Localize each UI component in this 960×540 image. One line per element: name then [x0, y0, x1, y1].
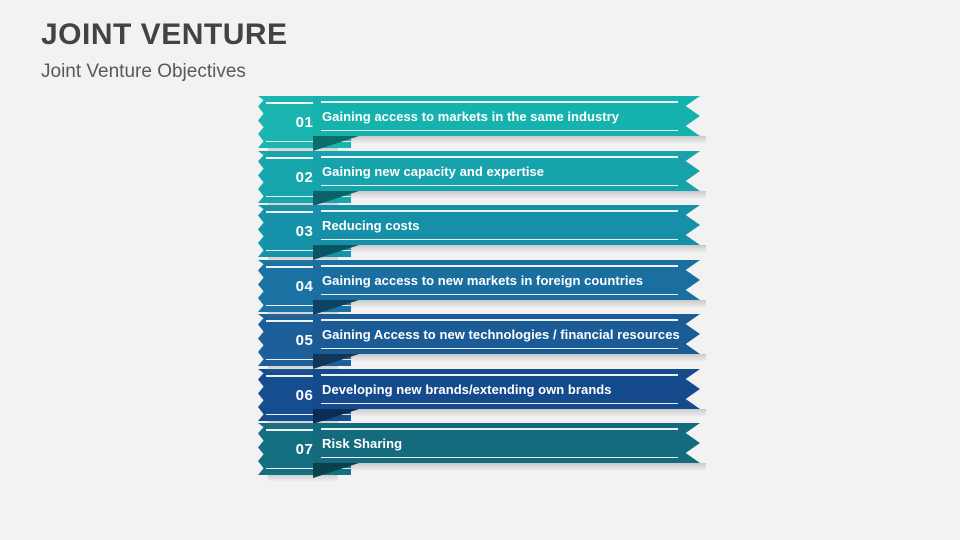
ribbon-banner[interactable]: Gaining Access to new technologies / fin…	[313, 314, 700, 354]
banner-shadow	[340, 136, 706, 144]
ribbon-banner[interactable]: Gaining new capacity and expertise	[313, 151, 700, 191]
banner-shadow	[340, 191, 706, 199]
ribbon-banner[interactable]: Developing new brands/extending own bran…	[313, 369, 700, 409]
ribbon-label: Gaining access to markets in the same in…	[322, 96, 619, 136]
ribbon-banner[interactable]: Risk Sharing	[313, 423, 700, 463]
ribbon-banner[interactable]: Reducing costs	[313, 205, 700, 245]
ribbon-label: Developing new brands/extending own bran…	[322, 369, 612, 409]
ribbon-label: Gaining new capacity and expertise	[322, 151, 544, 191]
ribbon-number: 05	[296, 332, 314, 349]
ribbon-banner[interactable]: Gaining access to new markets in foreign…	[313, 260, 700, 300]
banner-shadow	[340, 300, 706, 308]
slide-canvas: JOINT VENTURE Joint Venture Objectives 0…	[0, 0, 960, 540]
ribbon-label: Gaining Access to new technologies / fin…	[322, 314, 680, 354]
ribbon-number: 01	[296, 114, 314, 131]
ribbon-label: Gaining access to new markets in foreign…	[322, 260, 643, 300]
ribbon-label: Risk Sharing	[322, 423, 402, 463]
ribbon-label: Reducing costs	[322, 205, 420, 245]
banner-shadow	[340, 463, 706, 471]
banner-shadow	[340, 409, 706, 417]
ribbon-number: 03	[296, 223, 314, 240]
banner-shadow	[340, 354, 706, 362]
banner-shadow	[340, 245, 706, 253]
ribbon-list: 01Gaining access to markets in the same …	[0, 0, 960, 540]
ribbon-number: 07	[296, 441, 314, 458]
tab-shadow	[268, 475, 338, 482]
ribbon-banner[interactable]: Gaining access to markets in the same in…	[313, 96, 700, 136]
